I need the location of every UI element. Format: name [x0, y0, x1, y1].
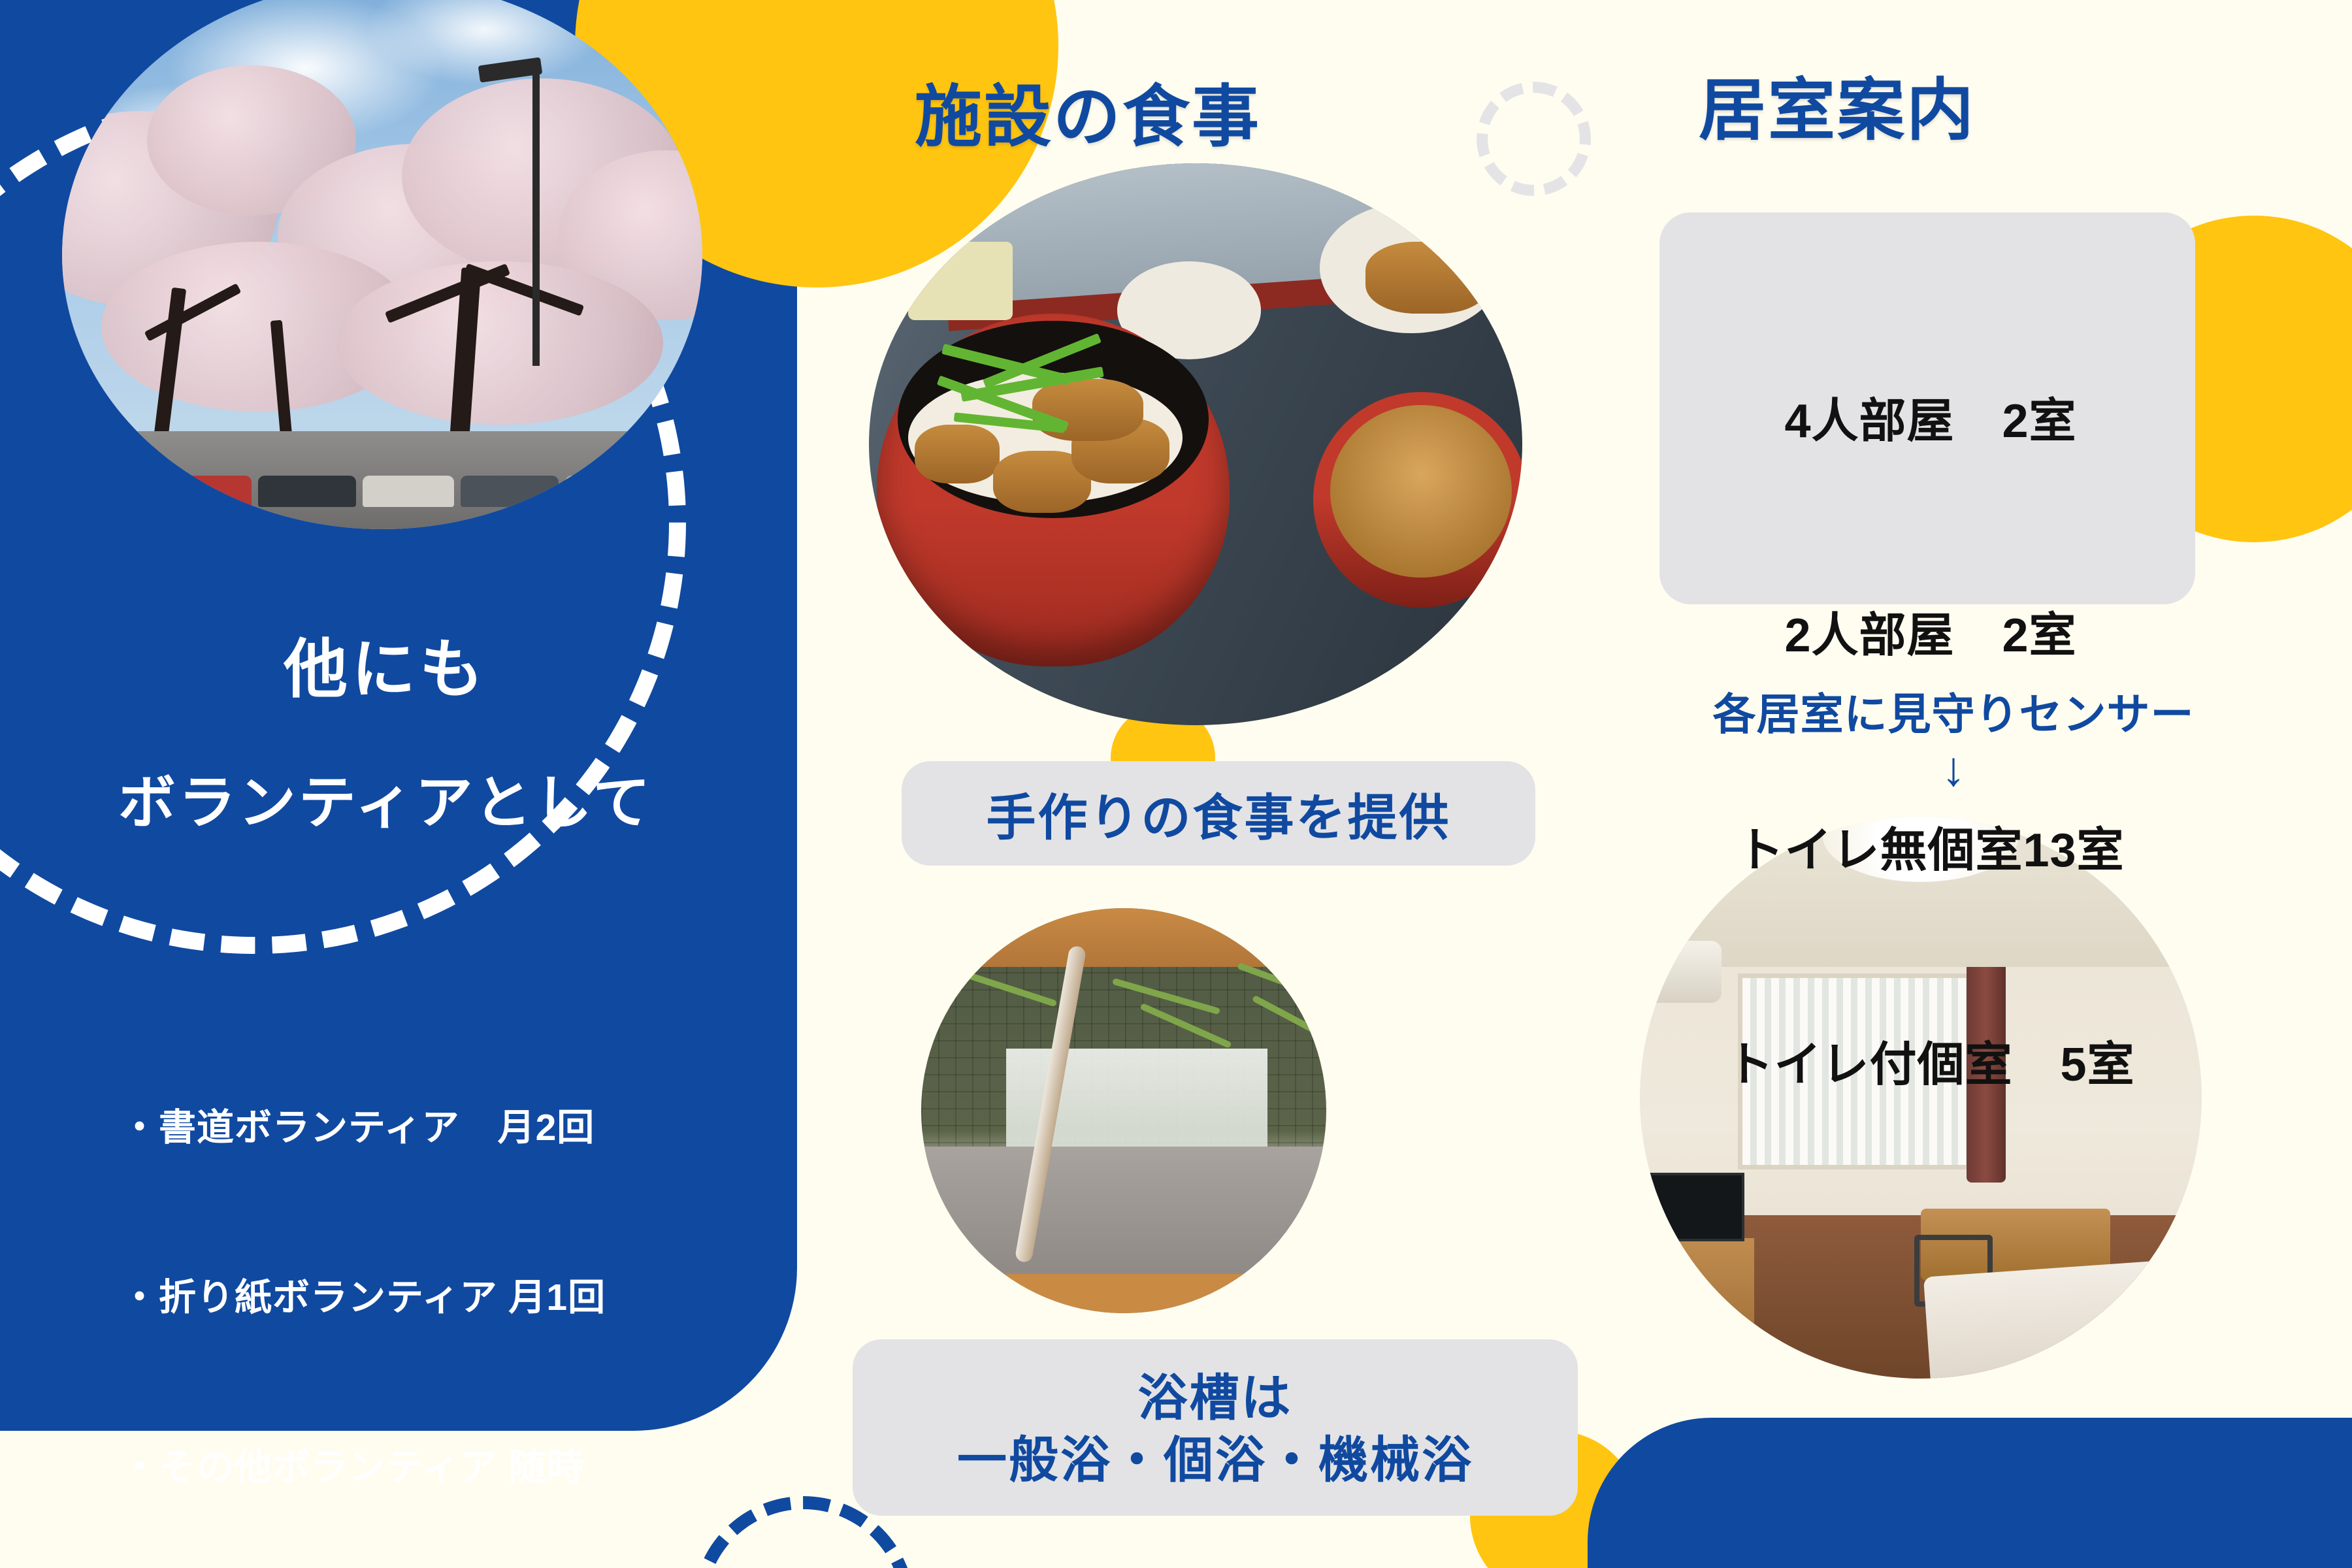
left-panel-title-primary: 他にも	[0, 617, 771, 710]
poster-canvas: 施設の食事 居室案内 他にも ボランティアとして ・書道ボランティア 月2回 ・…	[0, 0, 2352, 1568]
list-item: ・書道ボランティア 月2回	[121, 1100, 606, 1156]
parked-car	[565, 476, 657, 507]
list-item: ・折り紙ボランティア 月1回	[121, 1269, 606, 1326]
parked-car	[258, 476, 356, 507]
street-lamp-pole	[532, 65, 540, 366]
parked-car	[363, 476, 454, 507]
meal-caption-text: 手作りの食事を提供	[987, 777, 1451, 849]
list-item: ・その他ボランティア 随時	[121, 1439, 606, 1496]
parked-car	[160, 476, 252, 507]
sensor-note-text: 各居室に見守りセンサー	[1659, 679, 2247, 742]
bath-caption-badge: 浴槽は 一般浴・個浴・機械浴	[853, 1339, 1578, 1516]
table-row: 2人部屋 2室	[1669, 600, 2192, 672]
parked-car	[461, 476, 559, 507]
wood-floor-trim	[921, 1274, 1326, 1313]
meal-caption-badge: 手作りの食事を提供	[902, 761, 1535, 866]
page-title-meals: 施設の食事	[915, 62, 1261, 159]
left-panel-title-secondary: ボランティアとして	[0, 757, 771, 840]
wood-ceiling-trim	[921, 908, 1326, 967]
chicken-topping	[915, 425, 1000, 483]
bath-photo	[921, 908, 1326, 1313]
tv-cabinet	[1640, 1238, 1754, 1362]
table-row: トイレ付個室 5室	[1669, 1030, 2192, 1101]
bath-caption-line1: 浴槽は	[1138, 1367, 1293, 1429]
bed-mattress	[1923, 1258, 2202, 1379]
pickles-dish	[908, 242, 1013, 320]
volunteer-activity-list: ・書道ボランティア 月2回 ・折り紙ボランティア 月1回 ・その他ボランティア …	[121, 987, 606, 1568]
rooms-breakdown-list: 4人部屋 2室 2人部屋 2室 トイレ無個室13室 トイレ付個室 5室	[1669, 243, 2192, 1244]
arrow-down-icon: ↓	[1659, 745, 2247, 793]
chicken-topping	[1032, 379, 1143, 441]
page-title-rooms: 居室案内	[1699, 56, 1976, 153]
bottom-right-blue-panel	[1588, 1418, 2352, 1568]
stone-bath-edge	[921, 1147, 1326, 1277]
miso-soup-bowl	[1313, 392, 1522, 608]
fried-side	[1365, 242, 1490, 314]
meal-photo	[869, 163, 1522, 725]
sakura-photo	[62, 0, 702, 529]
table-row: トイレ無個室13室	[1669, 815, 2192, 887]
bath-caption-line2: 一般浴・個浴・機械浴	[957, 1429, 1473, 1492]
table-row: 4人部屋 2室	[1669, 386, 2192, 457]
